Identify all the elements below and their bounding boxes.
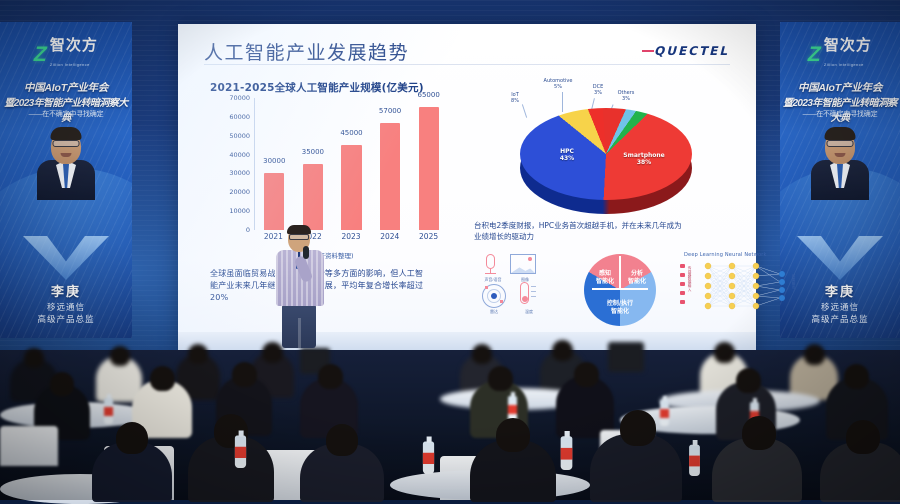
pie-callout-others: Others 3% bbox=[614, 90, 638, 102]
pie-callout-value: 3% bbox=[594, 90, 602, 96]
banner-logo: Z 智次方 Zillion Intelligence bbox=[780, 38, 900, 70]
bar bbox=[419, 107, 439, 230]
pie-slice-label: HPC bbox=[560, 148, 574, 155]
y-tick: 50000 bbox=[229, 132, 250, 140]
audience-area bbox=[0, 350, 900, 500]
pie-callout-value: 3% bbox=[622, 96, 630, 102]
y-tick: 0 bbox=[246, 226, 250, 234]
sensor-caption-temp: 温度 bbox=[516, 309, 542, 315]
x-tick: 2023 bbox=[335, 232, 368, 246]
pie-callout-value: 5% bbox=[554, 84, 562, 90]
banner-logo: Z 智次方 Zillion Intelligence bbox=[0, 38, 132, 70]
banner-title-line1: 中国AIoT产业年会 bbox=[784, 80, 896, 95]
bar-column: 45000 bbox=[335, 98, 368, 230]
y-tick: 10000 bbox=[229, 207, 250, 215]
bar bbox=[341, 145, 361, 230]
microphone-icon bbox=[486, 254, 495, 269]
pie-3d-body: HPC 43% Smartphone 38% bbox=[520, 108, 692, 214]
bar-chart: 70000 60000 50000 40000 30000 20000 1000… bbox=[212, 98, 448, 248]
bar-series: 3000035000450005700065000 bbox=[255, 98, 448, 230]
bar-value-label: 65000 bbox=[418, 91, 440, 99]
bar bbox=[264, 173, 284, 230]
pie-callout-iot: IoT 8% bbox=[504, 92, 526, 104]
pie-slice-value: 38% bbox=[637, 159, 651, 166]
z-logo-icon: Z bbox=[32, 44, 49, 65]
water-bottle bbox=[423, 442, 434, 475]
banner-subtitle: ——在不确定中寻找确定 bbox=[784, 109, 896, 119]
banner-logo-cn: 智次方 bbox=[50, 37, 98, 54]
water-bottle bbox=[689, 445, 700, 476]
bar bbox=[380, 123, 400, 230]
bar-column: 65000 bbox=[412, 98, 445, 230]
banner-speaker-role: 高级产品总监 bbox=[0, 313, 132, 325]
pie-label-smartphone: Smartphone 38% bbox=[620, 152, 668, 166]
speaker-portrait bbox=[803, 126, 877, 222]
banner-left: Z 智次方 Zillion Intelligence 中国AIoT产业年会 暨2… bbox=[0, 22, 132, 338]
nn-input-label: 传感器数据输入 bbox=[686, 266, 692, 291]
nn-title: Deep Learning Neural Network bbox=[684, 252, 767, 258]
quectel-logo-text: QUECTEL bbox=[653, 44, 731, 58]
sensor-icon-group: 声音/语音 图像 雷达 温度 bbox=[480, 252, 564, 322]
scene-root: Z 智次方 Zillion Intelligence 中国AIoT产业年会 暨2… bbox=[0, 0, 900, 500]
x-tick: 2024 bbox=[373, 232, 406, 246]
banner-subtitle: ——在不确定中寻找确定 bbox=[4, 109, 128, 119]
pie-label-hpc: HPC 43% bbox=[550, 148, 584, 162]
bar-column: 57000 bbox=[374, 98, 407, 230]
slide-divider bbox=[204, 64, 730, 65]
z-logo-icon: Z bbox=[806, 44, 823, 65]
slide-title: 人工智能产业发展趋势 bbox=[204, 38, 409, 65]
bar bbox=[303, 164, 323, 230]
water-bottle bbox=[235, 436, 246, 469]
banner-logo-cn: 智次方 bbox=[824, 37, 872, 54]
pie-callout-automotive: Automotive 5% bbox=[540, 78, 576, 90]
trio-label-control: 控制/执行智能化 bbox=[596, 300, 644, 316]
pie-chart: IoT 8% Automotive 5% DCE 3% Others 3% bbox=[478, 76, 728, 236]
pie-slice-label: Smartphone bbox=[623, 152, 664, 159]
bar-value-label: 35000 bbox=[302, 148, 324, 156]
neural-network-diagram: Deep Learning Neural Network bbox=[676, 252, 800, 322]
pie-callout-dce: DCE 3% bbox=[588, 84, 608, 96]
water-bottle bbox=[660, 400, 669, 426]
y-tick: 30000 bbox=[229, 169, 250, 177]
y-tick: 20000 bbox=[229, 188, 250, 196]
nn-output-label: 结果输出 bbox=[790, 274, 796, 288]
pie-slice-value: 43% bbox=[560, 155, 574, 162]
pie-commentary-text: 台积电2季度财报，HPC业务首次超越手机，并在未来几年成为业绩增长的驱动力 bbox=[474, 220, 684, 242]
y-tick: 70000 bbox=[229, 94, 250, 102]
banner-logo-en: Zillion Intelligence bbox=[50, 62, 90, 67]
bar-value-label: 45000 bbox=[340, 129, 362, 137]
projection-screen: 人工智能产业发展趋势 QUECTEL 2021-2025全球人工智能产业规模(亿… bbox=[178, 24, 756, 359]
bar-chart-heading: 2021-2025全球人工智能产业规模(亿美元) bbox=[210, 80, 424, 95]
trio-label-analysis: 分析智能化 bbox=[622, 270, 652, 286]
quectel-logo: QUECTEL bbox=[640, 44, 731, 58]
trio-label-perception: 感知智能化 bbox=[590, 270, 620, 286]
sensor-caption-radar: 雷达 bbox=[481, 309, 507, 315]
bar-value-label: 57000 bbox=[379, 107, 401, 115]
banner-title-line1: 中国AIoT产业年会 bbox=[4, 80, 128, 95]
pie-callout-value: 8% bbox=[511, 98, 519, 104]
bar-value-label: 30000 bbox=[263, 157, 285, 165]
video-camera bbox=[608, 342, 644, 372]
presenter-figure bbox=[272, 226, 328, 346]
y-tick: 40000 bbox=[229, 151, 250, 159]
banner-speaker-name: 李庚 bbox=[0, 281, 132, 300]
banner-logo-en: Zillion Intelligence bbox=[824, 62, 864, 67]
handheld-microphone-icon bbox=[303, 246, 309, 259]
intelligence-trio-diagram: 感知智能化 分析智能化 控制/执行智能化 bbox=[580, 252, 660, 328]
speaker-portrait bbox=[29, 126, 103, 222]
banner-speaker-org: 移远通信 bbox=[0, 301, 132, 313]
bar-column: 30000 bbox=[258, 98, 291, 230]
y-tick: 60000 bbox=[229, 113, 250, 121]
water-bottle bbox=[561, 436, 573, 470]
bar-column: 35000 bbox=[296, 98, 329, 230]
bar-chart-plot: 3000035000450005700065000 bbox=[254, 98, 448, 230]
sensor-caption-audio: 声音/语音 bbox=[480, 277, 506, 283]
bar-chart-y-axis: 70000 60000 50000 40000 30000 20000 1000… bbox=[212, 98, 252, 230]
water-bottle bbox=[104, 398, 113, 424]
x-tick: 2025 bbox=[412, 232, 445, 246]
nn-graph bbox=[676, 260, 800, 318]
